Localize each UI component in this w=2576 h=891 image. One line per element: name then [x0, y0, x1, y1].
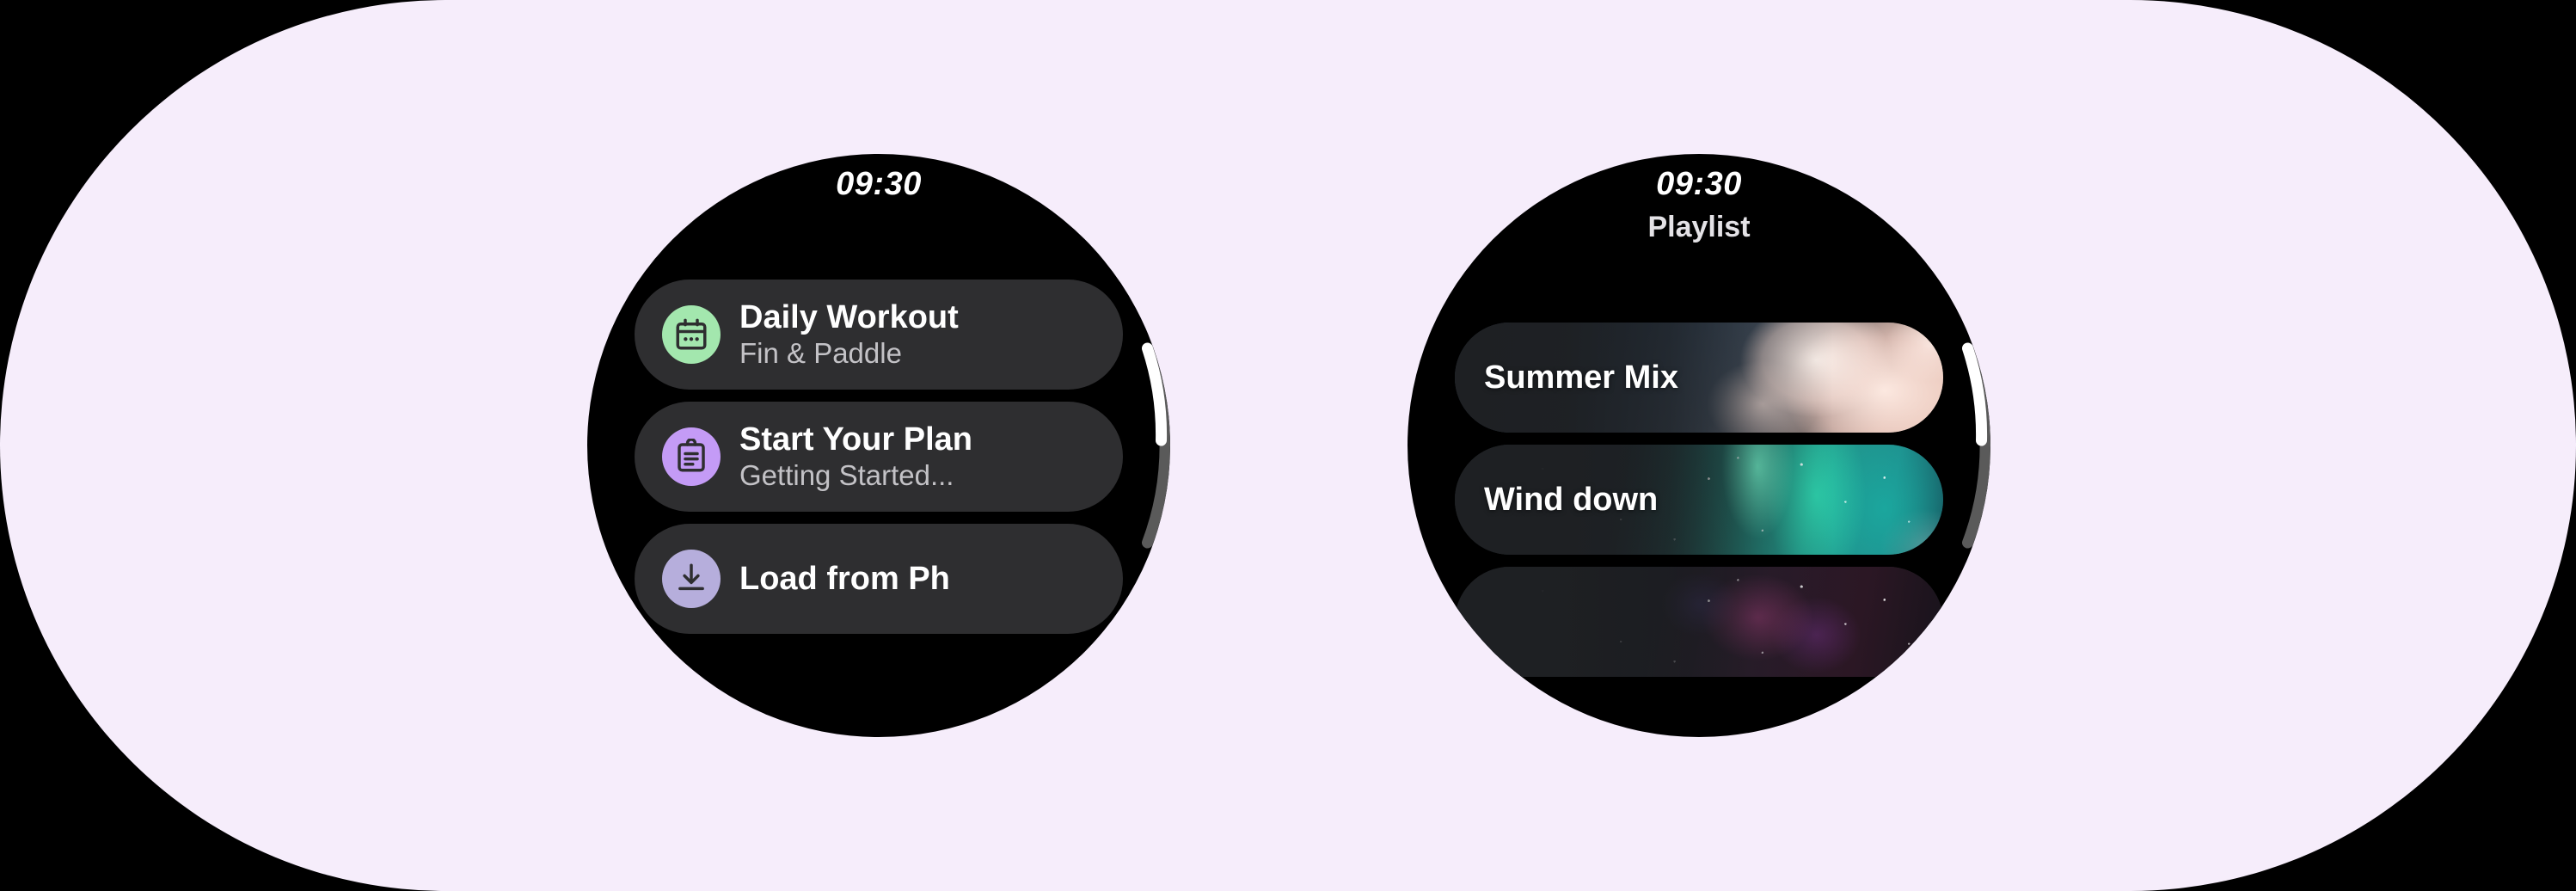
scrollbar-thumb[interactable] — [1148, 348, 1162, 440]
task-list-watch: 09:30 — [587, 154, 1170, 737]
watch-screen[interactable]: 09:30 — [587, 154, 1170, 737]
scrollbar-thumb[interactable] — [1968, 348, 1982, 440]
playlist-watch: 09:30 Playlist Summer Mix Wind down — [1408, 154, 1990, 737]
playlist-item-title: Summer Mix — [1455, 359, 1678, 396]
scrollbar[interactable] — [587, 154, 1170, 737]
scrollbar[interactable] — [1408, 154, 1990, 737]
watch-screen[interactable]: 09:30 Playlist Summer Mix Wind down — [1408, 154, 1990, 737]
playlist-item-title: Wind down — [1455, 482, 1658, 519]
canvas-pill-background — [0, 0, 2576, 891]
screenshot-stage: 09:30 — [0, 0, 2576, 891]
